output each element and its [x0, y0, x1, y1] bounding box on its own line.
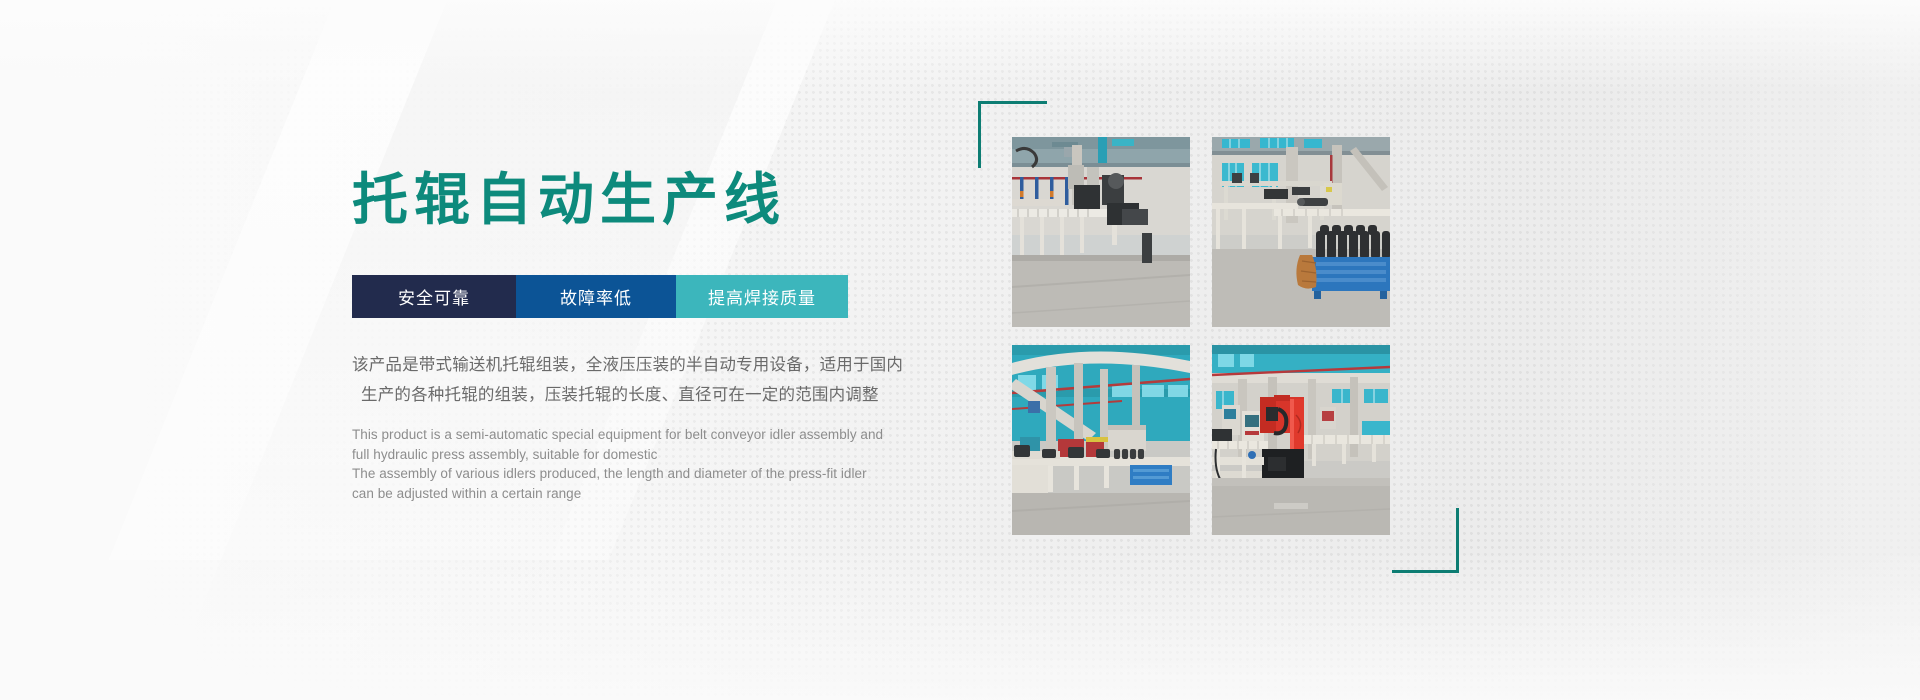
description-english-line-2: full hydraulic press assembly, suitable … [352, 445, 932, 465]
photo-conveyor-line-blue-hangers[interactable] [1012, 137, 1190, 327]
description-english-line-4: can be adjusted within a certain range [352, 484, 932, 504]
description-chinese-line-2: 生产的各种托辊的组装，压装托辊的长度、直径可在一定的范围内调整 [352, 380, 912, 410]
feature-badge-group: 安全可靠 故障率低 提高焊接质量 [352, 275, 848, 318]
description-english: This product is a semi-automatic special… [352, 425, 932, 503]
description-english-line-1: This product is a semi-automatic special… [352, 425, 932, 445]
badge-safe-reliable[interactable]: 安全可靠 [352, 275, 516, 318]
badge-low-failure-rate[interactable]: 故障率低 [516, 275, 676, 318]
page-title: 托辊自动生产线 [352, 173, 786, 229]
description-chinese-line-1: 该产品是带式输送机托辊组装，全液压压装的半自动专用设备，适用于国内 [352, 355, 903, 374]
photo-assembly-machines-row[interactable] [1012, 345, 1190, 535]
photo-gallery [1012, 137, 1412, 535]
description-english-line-3: The assembly of various idlers produced,… [352, 464, 932, 484]
content-column: 托辊自动生产线 安全可靠 故障率低 提高焊接质量 该产品是带式输送机托辊组装，全… [352, 0, 972, 700]
photo-workbench-idler-rollers-bin[interactable] [1212, 137, 1390, 327]
photo-red-press-machine[interactable] [1212, 345, 1390, 535]
description-chinese: 该产品是带式输送机托辊组装，全液压压装的半自动专用设备，适用于国内 生产的各种托… [352, 350, 912, 410]
badge-improve-weld-quality[interactable]: 提高焊接质量 [676, 275, 848, 318]
banner-stage: 托辊自动生产线 安全可靠 故障率低 提高焊接质量 该产品是带式输送机托辊组装，全… [0, 0, 1920, 700]
